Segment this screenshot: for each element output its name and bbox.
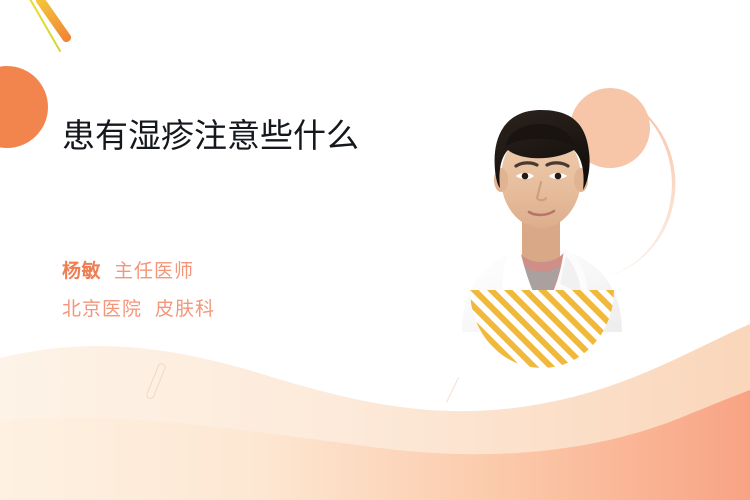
doctor-secondary-line: 北京医院皮肤科	[62, 294, 215, 321]
cover-text-block: 患有湿疹注意些什么 杨敏主任医师 北京医院皮肤科	[62, 116, 422, 156]
doctor-title: 主任医师	[114, 261, 194, 282]
pupil-left	[522, 173, 529, 180]
yellow-streak-decoration	[29, 0, 62, 52]
orange-circle-decoration	[0, 66, 48, 148]
doctor-hospital: 北京医院	[62, 299, 142, 320]
doctor-department: 皮肤科	[155, 299, 215, 320]
pupil-right	[555, 173, 562, 180]
neck	[522, 222, 560, 264]
page-title: 患有湿疹注意些什么	[62, 116, 402, 156]
faint-capsule-outline-icon	[145, 362, 167, 400]
doctor-primary-line: 杨敏主任医师	[62, 256, 194, 283]
medical-video-cover-card: 患有湿疹注意些什么 杨敏主任医师 北京医院皮肤科	[0, 0, 750, 500]
faint-diagonal-line-icon	[446, 377, 459, 403]
wave-back	[0, 324, 750, 500]
stripe-pattern	[470, 290, 614, 368]
orange-streak-decoration	[34, 0, 72, 44]
striped-half-circle	[470, 290, 614, 368]
doctor-portrait	[440, 70, 700, 350]
doctor-name: 杨敏	[62, 261, 101, 282]
wave-front	[0, 390, 750, 500]
